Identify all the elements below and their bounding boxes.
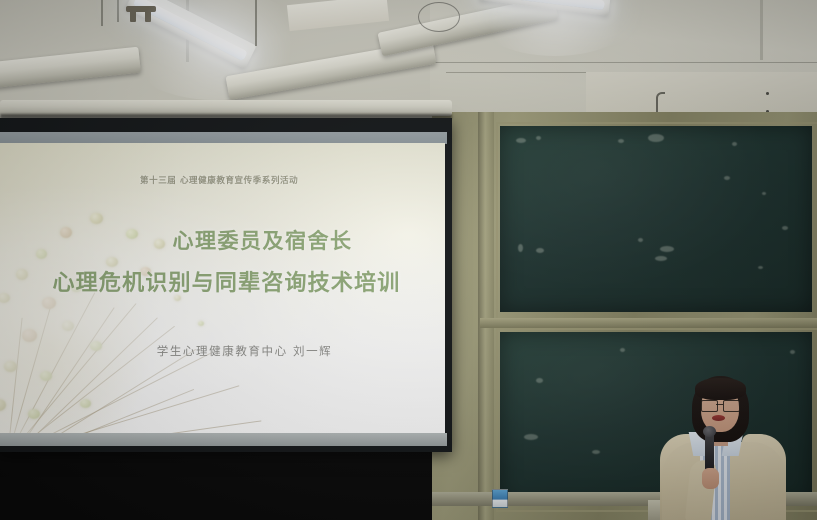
presenter-lips <box>712 415 725 421</box>
slide-byline-text: 学生心理健康教育中心 刘一辉 <box>0 343 445 359</box>
chalkboard-mullion <box>478 112 494 520</box>
flower-pod <box>0 399 6 411</box>
chalk-box[interactable] <box>492 489 508 508</box>
light-mount-plate <box>126 6 156 12</box>
flower-pod <box>40 371 52 381</box>
eyeglass-lens-left <box>701 400 718 412</box>
flower-pod <box>198 321 204 326</box>
slide-title-line-1: 心理委员及宿舍长 <box>0 225 445 255</box>
wall-hook-icon <box>656 92 665 114</box>
eyeglass-lens-right <box>723 400 740 412</box>
chalkboard-inner-edge-upper <box>496 122 817 320</box>
light-suspension-rod-c <box>255 0 257 46</box>
flower-pod <box>80 399 91 408</box>
light-suspension-rod-b <box>117 0 119 22</box>
hanging-cable-loop <box>418 2 460 32</box>
flower-pod <box>4 361 17 372</box>
microphone-head-icon <box>703 426 716 437</box>
ceiling-beam-right <box>760 0 763 60</box>
flower-pod <box>62 321 74 331</box>
flower-stem <box>17 349 196 434</box>
presenter <box>648 372 798 520</box>
projection-screen-bottom-band <box>0 433 447 446</box>
presenter-hand <box>702 468 719 489</box>
flower-stem <box>7 318 23 434</box>
slide-kicker-text: 第十三届 心理健康教育宣传季系列活动 <box>140 174 298 186</box>
light-suspension-rod-a <box>101 0 103 26</box>
eyeglasses-icon <box>700 400 740 410</box>
presentation-slide: 第十三届 心理健康教育宣传季系列活动 心理委员及宿舍长 心理危机识别与同辈咨询技… <box>0 143 445 434</box>
presenter-hair-fringe <box>695 378 746 400</box>
flower-pod <box>42 297 56 309</box>
flower-pod <box>22 329 37 342</box>
chalkboard-divider <box>480 318 817 328</box>
wall-seam-upper <box>430 62 817 63</box>
wall-nail-upper <box>766 92 769 95</box>
eyeglass-bridge <box>716 404 723 405</box>
flower-pod <box>90 213 103 224</box>
flower-pod <box>28 409 40 419</box>
classroom-scene: 第十三届 心理健康教育宣传季系列活动 心理委员及宿舍长 心理危机识别与同辈咨询技… <box>0 0 817 520</box>
slide-title-line-2: 心理危机识别与同辈咨询技术培训 <box>0 265 445 297</box>
